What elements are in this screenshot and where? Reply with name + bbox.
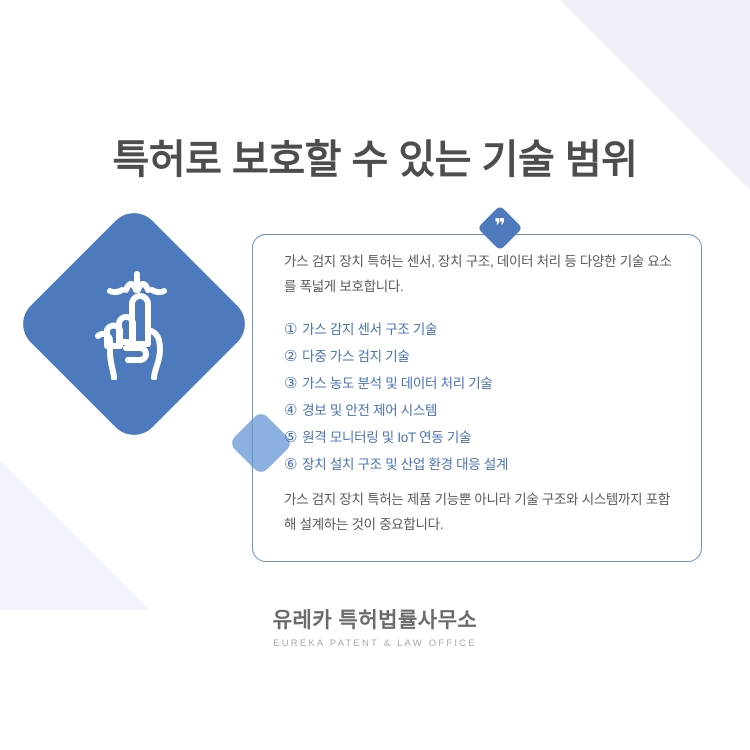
footer-branding: 유레카 특허법률사무소 EUREKA PATENT & LAW OFFICE [0,608,750,649]
list-item: ⑥ 장치 설치 구조 및 산업 환경 대응 설계 [284,457,678,472]
quotation-mark-icon: ❞ [484,212,516,244]
list-item-label: 가스 감지 센서 구조 기술 [302,323,437,337]
brand-name-english: EUREKA PATENT & LAW OFFICE [0,638,750,649]
list-item-label: 원격 모니터링 및 IoT 연동 기술 [302,431,471,445]
list-item: ③ 가스 농도 분석 및 데이터 처리 기술 [284,376,678,391]
closing-paragraph: 가스 검지 장치 특허는 제품 기능뿐 아니라 기술 구조와 시스템까지 포함해… [284,488,678,538]
page-title: 특허로 보호할 수 있는 기술 범위 [0,136,750,184]
corner-decoration-bottom-left [0,460,150,610]
list-number-icon: ④ [284,403,297,418]
list-item: ② 다중 가스 검지 기술 [284,349,678,364]
poster-canvas: 특허로 보호할 수 있는 기술 범위 ❞ 가스 검지 장치 특허는 센서, 장치… [0,0,750,750]
list-number-icon: ⑥ [284,457,297,472]
list-item-label: 가스 농도 분석 및 데이터 처리 기술 [302,377,492,391]
lead-paragraph: 가스 검지 장치 특허는 센서, 장치 구조, 데이터 처리 등 다양한 기술 … [284,250,678,300]
technology-scope-list: ① 가스 감지 센서 구조 기술 ② 다중 가스 검지 기술 ③ 가스 농도 분… [284,322,678,472]
pointing-hand-icon [48,238,220,410]
list-item: ① 가스 감지 센서 구조 기술 [284,322,678,337]
brand-name-korean: 유레카 특허법률사무소 [0,608,750,633]
list-number-icon: ② [284,349,297,364]
list-item-label: 장치 설치 구조 및 산업 환경 대응 설계 [302,458,508,472]
list-item: ⑤ 원격 모니터링 및 IoT 연동 기술 [284,430,678,445]
list-item-label: 경보 및 안전 제어 시스템 [302,404,437,418]
list-item-label: 다중 가스 검지 기술 [302,350,409,364]
list-number-icon: ⑤ [284,430,297,445]
card-content: 가스 검지 장치 특허는 센서, 장치 구조, 데이터 처리 등 다양한 기술 … [284,250,678,538]
list-number-icon: ① [284,322,297,337]
list-number-icon: ③ [284,376,297,391]
list-item: ④ 경보 및 안전 제어 시스템 [284,403,678,418]
